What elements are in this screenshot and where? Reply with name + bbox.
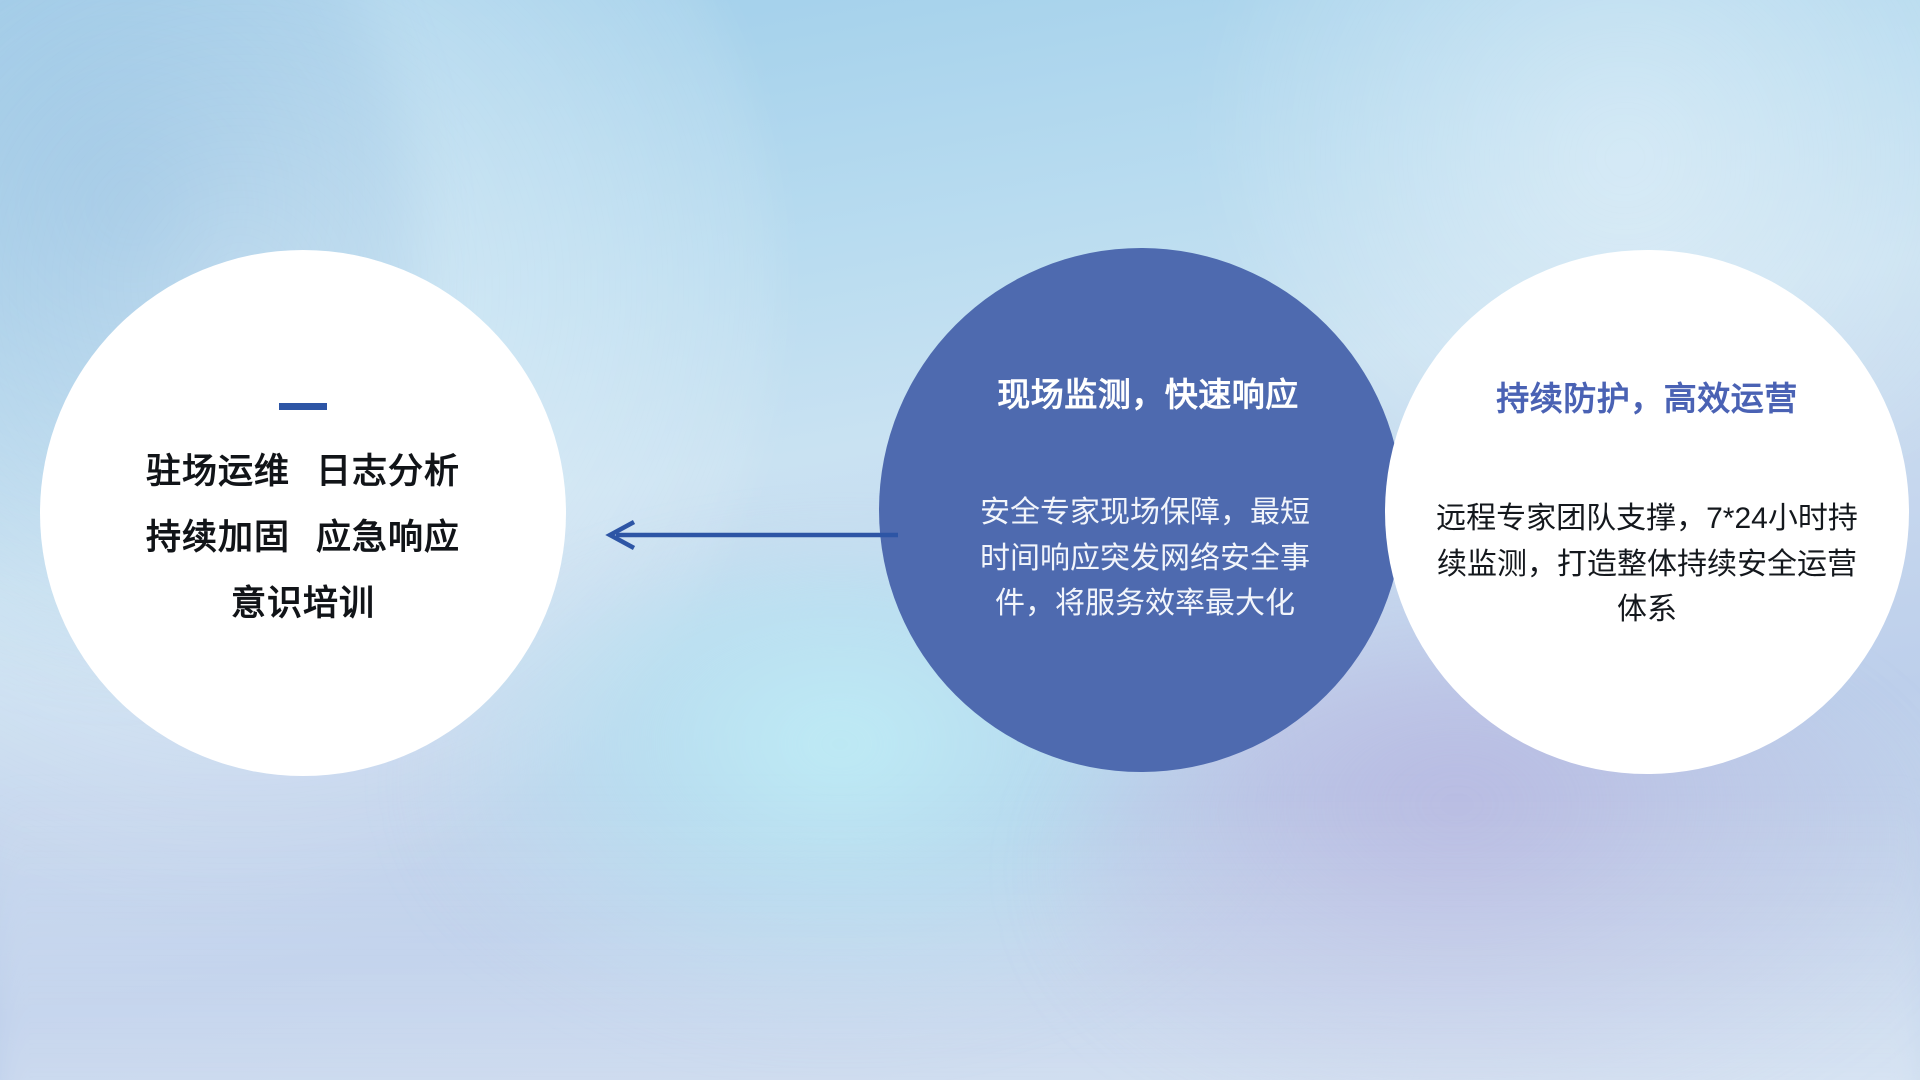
capability-list: 驻场运维日志分析 持续加固应急响应 意识培训	[40, 454, 566, 622]
flow-arrow-left	[600, 515, 900, 555]
capability-row-2: 持续加固应急响应	[146, 520, 460, 557]
right-circle-body: 远程专家团队支撑，7*24小时持续监测，打造整体持续安全运营体系	[1432, 496, 1862, 633]
arrow-left-icon	[600, 515, 900, 555]
capability-item-1: 驻场运维	[146, 452, 290, 491]
slide-canvas: 驻场运维日志分析 持续加固应急响应 意识培训 现场监测，快速响应 安全专家现场保…	[0, 0, 1920, 1080]
right-circle-content: 持续防护，高效运营 远程专家团队支撑，7*24小时持续监测，打造整体持续安全运营…	[1432, 372, 1862, 633]
capability-item-2: 日志分析	[316, 452, 460, 491]
capability-item-5: 意识培训	[231, 584, 375, 623]
middle-circle-body: 安全专家现场保障，最短时间响应突发网络安全事件，将服务效率最大化	[969, 490, 1321, 627]
background-bottom-fade	[0, 780, 1920, 1080]
capability-row-1: 驻场运维日志分析	[146, 454, 460, 491]
capability-circle-right: 持续防护，高效运营 远程专家团队支撑，7*24小时持续监测，打造整体持续安全运营…	[1385, 250, 1909, 774]
capability-item-4: 应急响应	[316, 518, 460, 557]
capability-circle-middle: 现场监测，快速响应 安全专家现场保障，最短时间响应突发网络安全事件，将服务效率最…	[879, 248, 1403, 772]
capability-circle-left: 驻场运维日志分析 持续加固应急响应 意识培训	[40, 250, 566, 776]
capability-item-3: 持续加固	[146, 518, 290, 557]
right-circle-title: 持续防护，高效运营	[1432, 372, 1862, 420]
capability-row-3: 意识培训	[231, 586, 375, 623]
divider-dash-icon	[279, 403, 327, 410]
middle-circle-content: 现场监测，快速响应 安全专家现场保障，最短时间响应突发网络安全事件，将服务效率最…	[961, 368, 1321, 627]
middle-circle-title: 现场监测，快速响应	[975, 368, 1321, 416]
